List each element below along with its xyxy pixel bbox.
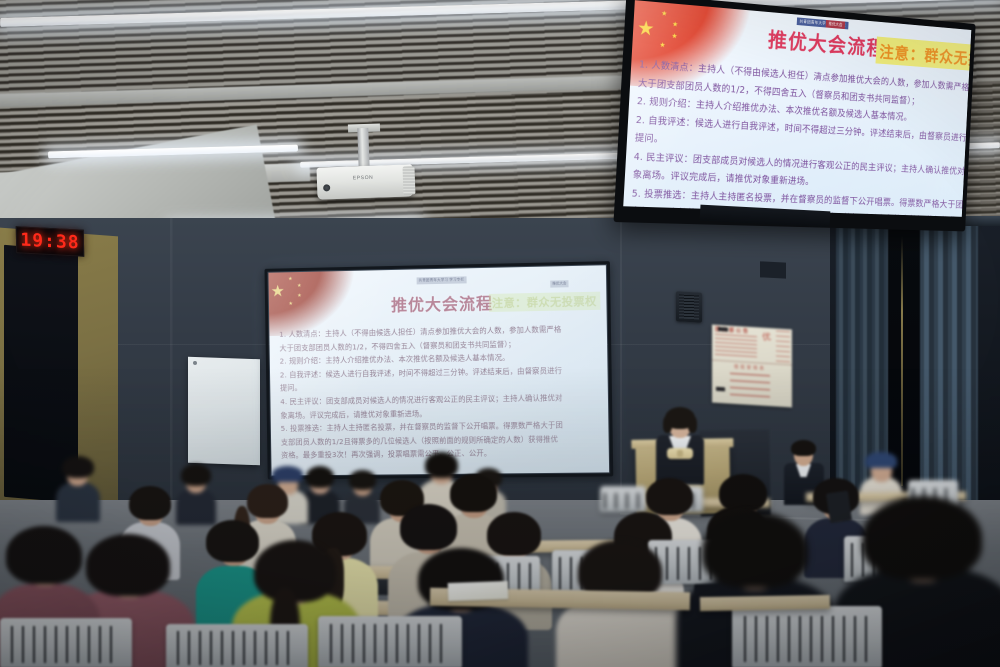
tv-bezel: ★ ★ ★ ★ ★ 共青团青年大学习 学习专栏 推优大会 推优大会流程 注意：群… [613,0,975,231]
flag-star-2: ★ [672,21,678,28]
slide-title: 推优大会流程 [767,25,886,63]
cap-icon [865,452,897,468]
presenter-hair [665,407,695,429]
slide-body: 1. 人数清点：主持人（不得由候选人担任）清点参加推优大会的人数，参加人数需严格… [629,56,971,216]
projector-mount-pole [357,128,369,170]
flag-star-1-projected: ★ [288,277,292,282]
noticeboard-upper-panel: 团 支 部 公 告 优 [712,325,792,366]
chair[interactable] [0,618,132,667]
tv-display: ★ ★ ★ ★ ★ 共青团青年大学习 学习专栏 推优大会 推优大会流程 注意：群… [623,0,971,217]
noticeboard-right-column-text [776,330,790,363]
desk [700,595,830,611]
wall-mounted-tv: ★ ★ ★ ★ ★ 共青团青年大学习 学习专栏 推优大会 推优大会流程 注意：群… [613,0,975,231]
window-curtain-right[interactable] [920,222,978,502]
noticeboard-subtitle: 值 班 安 排 表 [734,364,764,372]
audience-hair [62,456,94,478]
chair[interactable] [732,606,882,667]
wall-speaker [676,291,702,322]
presenter [650,408,710,478]
slide-tag-right-projected: 推优大会 [550,280,568,287]
noticeboard-schedule-rows [730,373,770,399]
ceiling-projector: EPSON [316,164,413,199]
slide-title-projected: 推优大会流程 [391,290,493,316]
noticeboard-red-stamp: 优 [761,330,771,343]
lecture-hall-screenshot: EPSON 19:38 团 支 部 公 告 优 值 班 安 排 表 ★ [0,0,1000,667]
chair-back-slots [744,616,870,662]
chair[interactable] [166,624,308,667]
flag-star-4: ★ [659,42,665,49]
projector-brand-label: EPSON [353,175,374,182]
presenter-bow-tie [667,448,693,459]
audience-hair [181,464,211,486]
audience-hair [6,526,82,584]
audience-member [56,456,100,518]
audience-hair [400,504,457,550]
staff-hair [791,440,816,456]
chair-back-slots [177,631,296,665]
audience-hair [862,496,982,580]
chair-back-slots [11,626,122,663]
audience-hair [702,512,808,588]
clock-time-readout: 19:38 [20,229,80,253]
whiteboard [188,357,260,466]
wall-junction-box [760,261,786,278]
flag-star-4-projected: ★ [288,302,292,307]
slide-tag-left-projected: 共青团青年大学习 学习专栏 [417,276,467,284]
slide-notice-projected: 注意：群众无投票权 [489,292,600,312]
flag-star-3-projected: ★ [297,294,301,299]
slide-body-projected: 1. 人数清点：主持人（不得由候选人担任）清点参加推优大会的人数，参加人数需严格… [279,322,603,463]
projection-screen: ★ ★ ★ ★ ★ 共青团青年大学习 学习专栏 推优大会 推优大会流程 注意：群… [268,265,609,475]
audience-hair [247,484,288,518]
wall-noticeboard: 团 支 部 公 告 优 值 班 安 排 表 [712,325,792,408]
phone[interactable] [826,491,852,524]
audience-member [176,464,216,522]
flag-star-large-projected: ★ [271,284,285,300]
noticeboard-text-lines [715,334,757,361]
audience-hair [646,478,693,515]
flag-star-large: ★ [637,18,655,39]
flag-star-3: ★ [671,33,677,40]
projector-body [316,164,413,199]
led-wall-clock: 19:38 [16,226,84,257]
noticeboard-black-tag-top [718,327,728,332]
noticeboard-black-tag [716,387,725,392]
chair[interactable] [318,616,462,667]
audience-hair [306,466,334,488]
slide-tag-right: 推优大会 [826,20,845,29]
cap-icon [272,466,303,482]
audience-hair [254,540,336,602]
audience-hair [129,486,171,520]
notebook-page [448,581,509,601]
flag-star-1: ★ [661,10,667,17]
projected-slide: ★ ★ ★ ★ ★ 共青团青年大学习 学习专栏 推优大会 推优大会流程 注意：群… [268,265,609,475]
slide-notice: 注意：群众无投票权 [876,37,972,74]
chair-back-slots [330,624,451,662]
flag-star-2-projected: ★ [297,284,301,289]
audience-torso [56,482,100,522]
